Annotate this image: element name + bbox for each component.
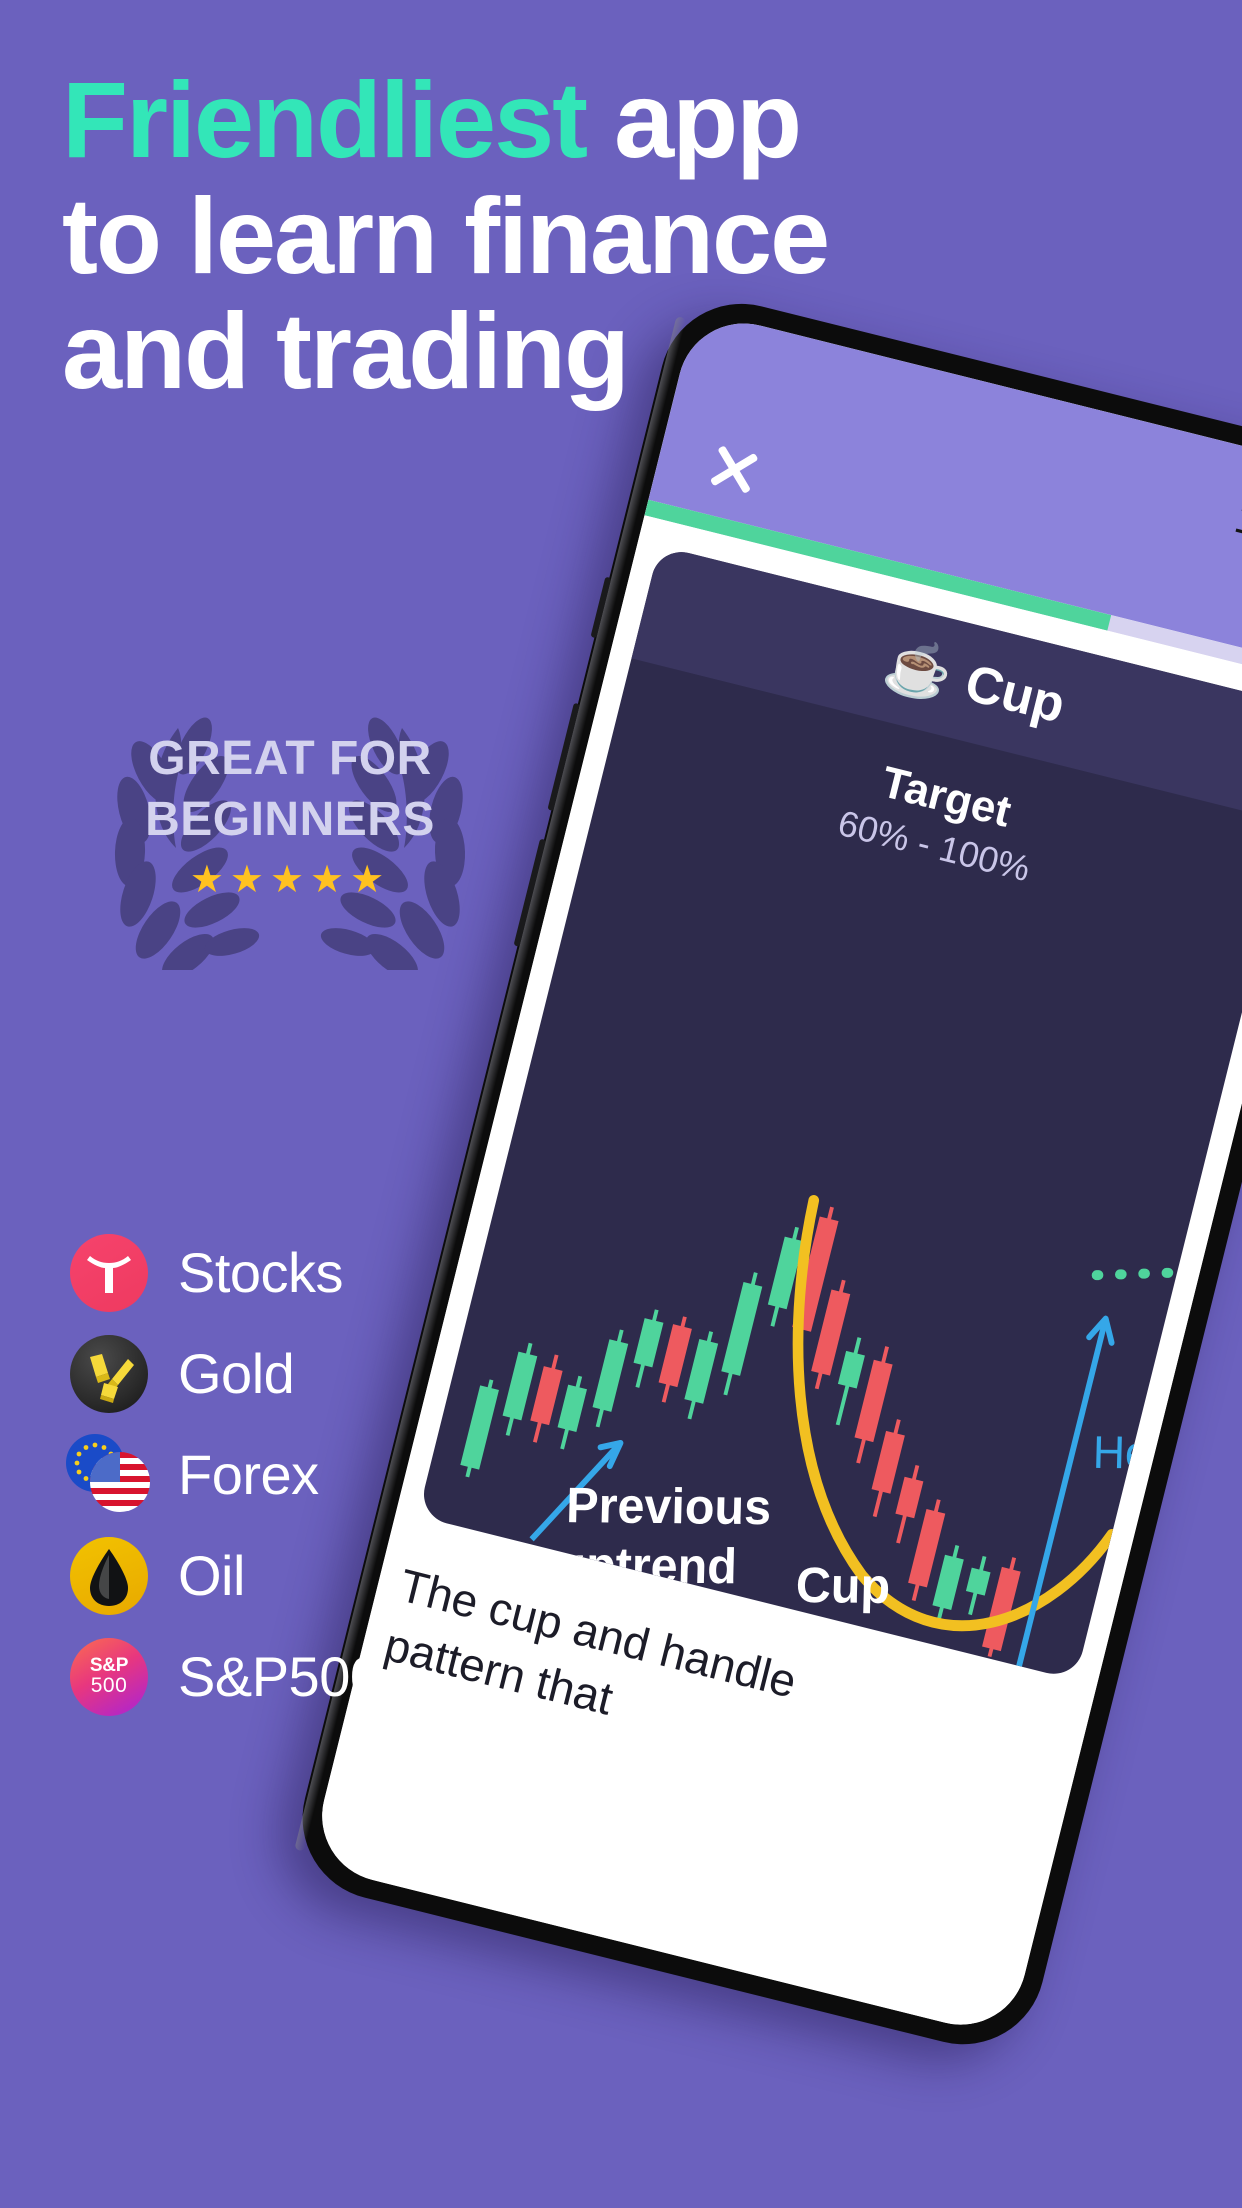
headline-accent-word: Friendliest bbox=[62, 59, 586, 180]
chart-card: ☕ Cup Target 60% - 100% bbox=[418, 546, 1242, 1680]
eu-us-flags-icon bbox=[70, 1436, 148, 1514]
list-item[interactable]: Oil bbox=[70, 1525, 381, 1626]
previous-uptrend-label: Previous bbox=[566, 1477, 772, 1535]
status-bar-time: 11:42 bbox=[1230, 493, 1242, 566]
list-item-label: Oil bbox=[178, 1543, 245, 1608]
close-icon[interactable] bbox=[699, 433, 767, 501]
oil-droplet-icon bbox=[70, 1537, 148, 1615]
phone-screen: 11:42 ☕ Cup Target 60% - 100% bbox=[308, 310, 1242, 2039]
list-item-label: Forex bbox=[178, 1442, 319, 1507]
sp500-icon-line2: 500 bbox=[91, 1674, 128, 1697]
cup-label: Cup bbox=[795, 1557, 891, 1614]
list-item[interactable]: Forex bbox=[70, 1424, 381, 1525]
sp500-badge-icon: S&P 500 bbox=[70, 1638, 148, 1716]
us-flag-icon bbox=[90, 1452, 150, 1512]
previous-uptrend-label-2: uptrend bbox=[556, 1537, 738, 1595]
list-item[interactable]: S&P 500 S&P500 bbox=[70, 1626, 381, 1727]
tesla-logo-icon bbox=[70, 1234, 148, 1312]
headline-line2: to learn finance bbox=[62, 175, 828, 296]
phone-bezel: 11:42 ☕ Cup Target 60% - 100% bbox=[285, 286, 1242, 2061]
list-item-label: Stocks bbox=[178, 1240, 343, 1305]
headline-rest-line1: app bbox=[586, 59, 800, 180]
gold-bars-icon bbox=[70, 1335, 148, 1413]
phone-mockup: 11:42 ☕ Cup Target 60% - 100% bbox=[285, 286, 1242, 2061]
coffee-cup-icon: ☕ bbox=[879, 636, 957, 705]
breakout-dotted-line bbox=[1097, 1254, 1178, 1294]
badge-line-1: GREAT FOR bbox=[60, 728, 520, 789]
list-item[interactable]: Stocks bbox=[70, 1222, 381, 1323]
app-store-screenshot: Friendliest app to learn finance and tra… bbox=[0, 0, 1242, 2208]
page-title: Friendliest app to learn finance and tra… bbox=[62, 62, 842, 409]
headline-line3: and trading bbox=[62, 290, 628, 411]
list-item-label: S&P500 bbox=[178, 1644, 381, 1709]
asset-list: Stocks Gold bbox=[70, 1222, 381, 1727]
candlestick-chart: Previous uptrend Cup Height bbox=[418, 788, 1242, 1680]
list-item-label: Gold bbox=[178, 1341, 294, 1406]
badge-line-2: BEGINNERS bbox=[60, 789, 520, 850]
height-label: Height bbox=[1092, 1426, 1223, 1479]
list-item[interactable]: Gold bbox=[70, 1323, 381, 1424]
chart-card-title: Cup bbox=[959, 653, 1070, 735]
great-for-beginners-badge: GREAT FOR BEGINNERS ★★★★★ bbox=[60, 700, 520, 970]
rating-stars: ★★★★★ bbox=[60, 861, 520, 899]
